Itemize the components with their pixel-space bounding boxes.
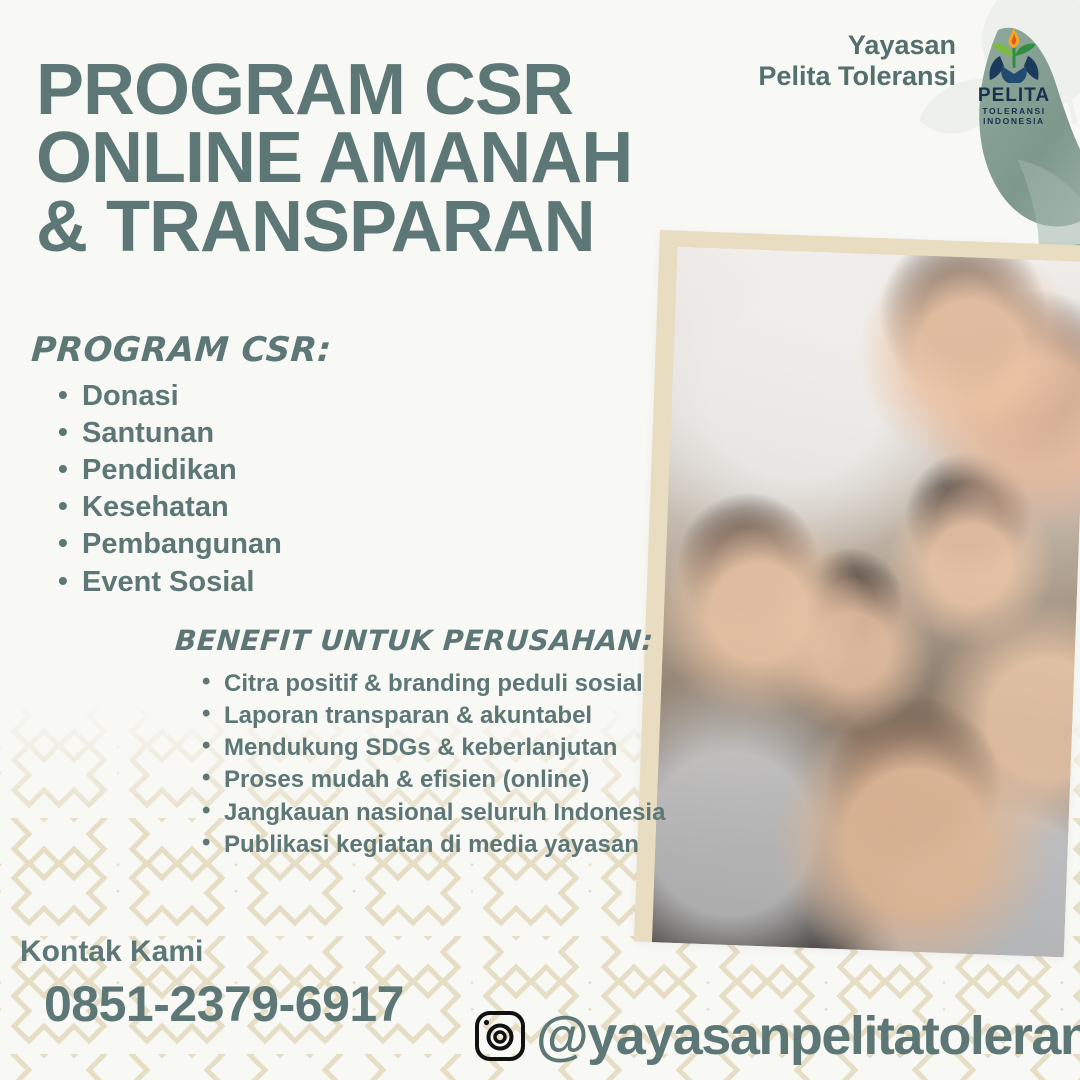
pelita-toleransi-logo-icon: PELITA TOLERANSI INDONESIA bbox=[968, 26, 1060, 120]
contact-phone-number[interactable]: 0851-2379-6917 bbox=[44, 975, 404, 1033]
list-item: Pembangunan bbox=[56, 526, 282, 563]
instagram-handle: @yayasanpelitatoleransi bbox=[536, 1009, 1080, 1063]
program-list: Donasi Santunan Pendidikan Kesehatan Pem… bbox=[56, 378, 282, 601]
list-item: Jangkauan nasional seluruh Indonesia bbox=[200, 797, 665, 829]
photo-frame bbox=[634, 230, 1080, 957]
list-item: Santunan bbox=[56, 415, 282, 452]
list-item: Publikasi kegiatan di media yayasan bbox=[200, 829, 665, 861]
poster-canvas: Yayasan Pelita Toleransi PELITA TOLERANS… bbox=[0, 0, 1080, 1080]
page-title: PROGRAM CSR ONLINE AMANAH & TRANSPARAN bbox=[36, 56, 676, 261]
children-photo bbox=[652, 247, 1080, 958]
program-section-heading: PROGRAM CSR: bbox=[30, 330, 333, 370]
headline-line-3: & TRANSPARAN bbox=[36, 193, 676, 261]
benefit-section-heading: BENEFIT UNTUK PERUSAHAN: bbox=[174, 624, 655, 657]
list-item: Proses mudah & efisien (online) bbox=[200, 764, 665, 796]
list-item: Pendidikan bbox=[56, 452, 282, 489]
logo-word-pelita: PELITA bbox=[968, 86, 1060, 105]
contact-label: Kontak Kami bbox=[20, 935, 203, 969]
instagram-link[interactable]: @yayasanpelitatoleransi bbox=[472, 1008, 1080, 1064]
headline-line-2: ONLINE AMANAH bbox=[36, 124, 676, 192]
list-item: Kesehatan bbox=[56, 489, 282, 526]
list-item: Event Sosial bbox=[56, 564, 282, 601]
list-item: Laporan transparan & akuntabel bbox=[200, 700, 665, 732]
headline-line-1: PROGRAM CSR bbox=[36, 56, 676, 124]
logo-word-toleransi: TOLERANSI bbox=[968, 107, 1060, 116]
organization-name: Yayasan Pelita Toleransi bbox=[758, 30, 956, 92]
org-line-2: Pelita Toleransi bbox=[758, 61, 956, 91]
org-line-1: Yayasan bbox=[848, 30, 956, 60]
logo-word-indonesia: INDONESIA bbox=[968, 117, 1060, 126]
photo-overlay bbox=[652, 247, 1080, 958]
list-item: Mendukung SDGs & keberlanjutan bbox=[200, 732, 665, 764]
instagram-icon bbox=[472, 1008, 528, 1064]
list-item: Citra positif & branding peduli sosial bbox=[200, 668, 665, 700]
list-item: Donasi bbox=[56, 378, 282, 415]
benefit-list: Citra positif & branding peduli sosial L… bbox=[200, 668, 665, 861]
